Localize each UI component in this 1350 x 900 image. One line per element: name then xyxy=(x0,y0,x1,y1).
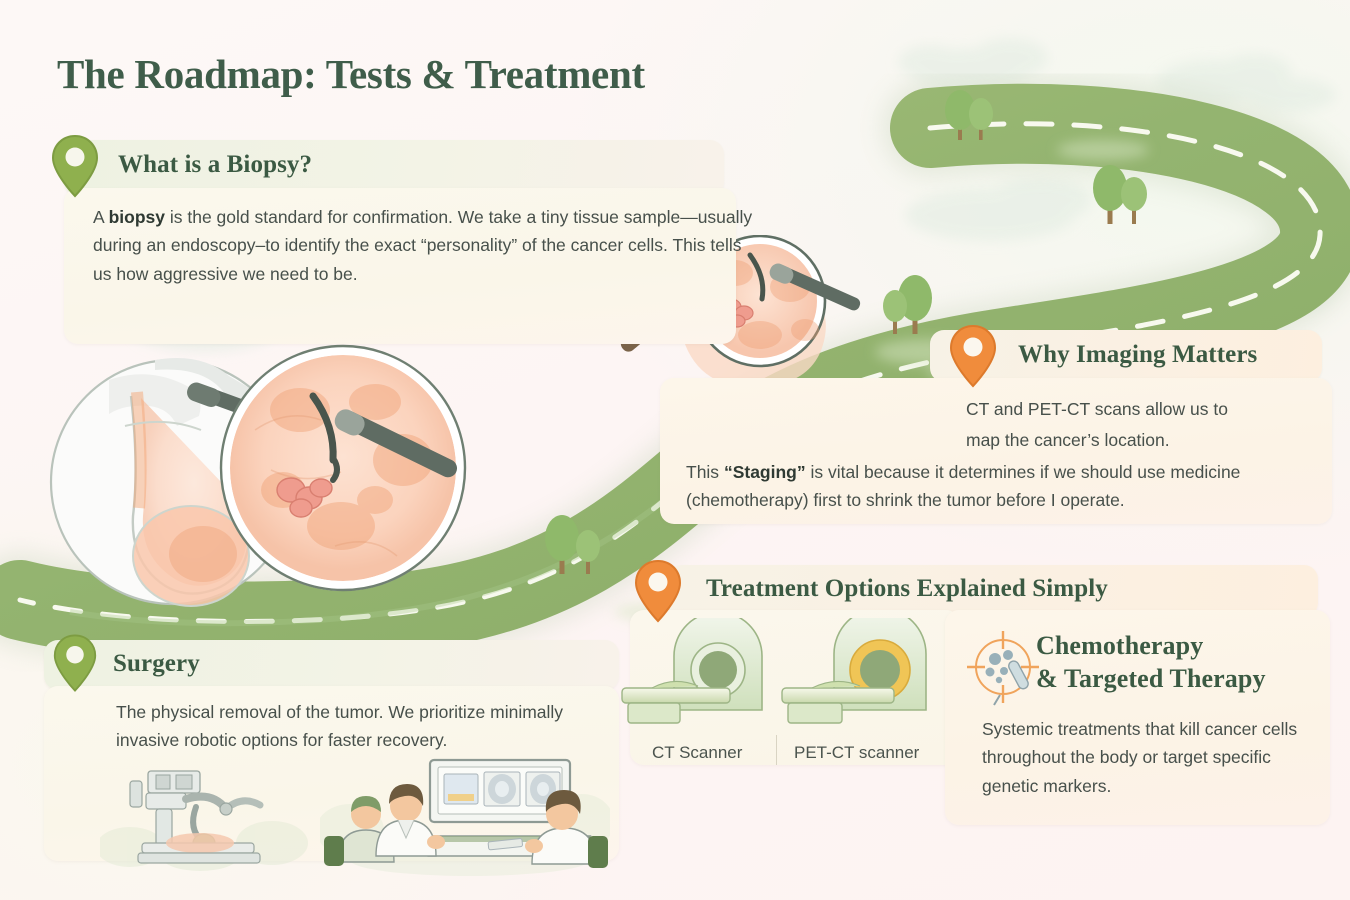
imaging-body: This “Staging” is vital because it deter… xyxy=(686,458,1326,515)
infographic-canvas: What is a Biopsy? A biopsy is the gold s… xyxy=(0,0,1350,900)
imaging-heading: Why Imaging Matters xyxy=(1018,341,1257,369)
treatment-card-body xyxy=(630,610,960,765)
page-title: The Roadmap: Tests & Treatment xyxy=(57,50,645,98)
chemo-body: Systemic treatments that kill cancer cel… xyxy=(982,715,1312,800)
chemo-heading-line-2: & Targeted Therapy xyxy=(1036,664,1266,694)
pet-ct-scanner-label: PET-CT scanner xyxy=(794,743,919,763)
scanner-label-divider xyxy=(776,735,777,765)
map-pin-icon-treatment xyxy=(633,558,683,624)
ct-scanner-label: CT Scanner xyxy=(652,743,742,763)
map-pin-icon-imaging xyxy=(948,323,998,389)
biopsy-body: A biopsy is the gold standard for confir… xyxy=(93,203,753,288)
map-pin-icon-biopsy xyxy=(50,133,100,199)
map-pin-icon-surgery xyxy=(52,632,98,694)
chemo-heading-line-1: Chemotherapy xyxy=(1036,631,1203,661)
stomach-endoscopy-illustration xyxy=(45,340,475,640)
imaging-line-1: CT and PET-CT scans allow us to xyxy=(966,395,1350,423)
biopsy-heading: What is a Biopsy? xyxy=(118,151,312,179)
surgery-body: The physical removal of the tumor. We pr… xyxy=(116,698,616,755)
imaging-line-2: map the cancer’s location. xyxy=(966,426,1350,454)
treatment-heading: Treatment Options Explained Simply xyxy=(706,575,1108,603)
surgery-heading: Surgery xyxy=(113,650,200,678)
